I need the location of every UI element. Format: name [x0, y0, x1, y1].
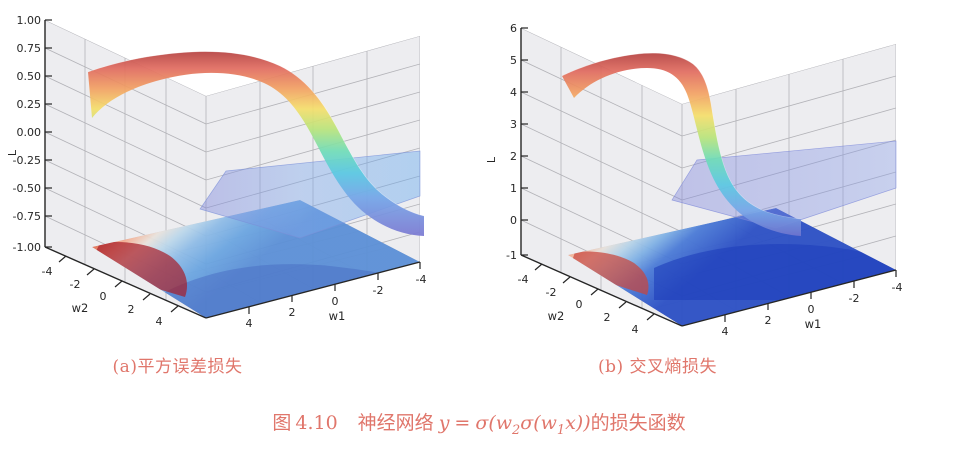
x-tick-label: 0: [332, 295, 339, 308]
z-tick-label: 3: [510, 118, 517, 131]
z-tick-label: -1.00: [13, 241, 41, 254]
z-tick-labels-b: 6 5 4 3 2 1 0 -1: [506, 22, 517, 262]
z-tick-label: 4: [510, 86, 517, 99]
z-axis-label-b: L: [485, 156, 498, 163]
z-tick-label: 0.50: [17, 70, 42, 83]
z-tick-labels-a: 1.00 0.75 0.50 0.25 0.00 -0.25 -0.50 -0.…: [13, 14, 41, 254]
z-tick-label: 0.00: [17, 126, 42, 139]
surface-plot-a: 1.00 0.75 0.50 0.25 0.00 -0.25 -0.50 -0.…: [0, 0, 479, 345]
z-axis-label-a: L: [6, 149, 19, 156]
y-tick-label: 0: [100, 290, 107, 303]
z-tick-label: 0: [510, 214, 517, 227]
y-tick-label: -2: [546, 286, 557, 299]
x-tick-label: 2: [765, 314, 772, 327]
z-tick-label: 0.75: [17, 42, 42, 55]
x-tick-label: 0: [808, 303, 815, 316]
y-tick-label: -4: [518, 273, 529, 286]
subcaption-a-tag: (a): [113, 357, 138, 377]
subcaption-a: (a)平方误差损失: [0, 352, 417, 377]
subcaption-b-label: 交叉熵损失: [630, 357, 718, 377]
figure-caption-number: 4.10: [295, 412, 337, 434]
y-axis-label-b: w2: [548, 309, 565, 323]
y-tick-label: 2: [604, 311, 611, 324]
z-tick-label: 5: [510, 54, 517, 67]
x-tick-label: 2: [289, 306, 296, 319]
x-axis-label-a: w1: [329, 309, 346, 323]
z-tick-label: 1.00: [17, 14, 42, 27]
plot-panel-cross-entropy: 6 5 4 3 2 1 0 -1 L -4 -2 0 2: [479, 0, 958, 345]
y-tick-label: 4: [156, 315, 163, 328]
x-axis-label-b: w1: [805, 317, 822, 331]
x-tick-label: -2: [849, 292, 860, 305]
y-tick-label: 0: [576, 298, 583, 311]
subcaption-b: (b) 交叉熵损失: [418, 352, 897, 377]
figure-caption-math: y=σ(w2σ(w1x)): [434, 412, 591, 434]
subcaption-a-label: 平方误差损失: [137, 357, 242, 377]
figure-caption-text-before: 神经网络: [358, 412, 434, 434]
z-tick-label: 2: [510, 150, 517, 163]
figure-caption: 图4.10神经网络y=σ(w2σ(w1x))的损失函数: [0, 408, 958, 438]
plot-panel-squared-error: 1.00 0.75 0.50 0.25 0.00 -0.25 -0.50 -0.…: [0, 0, 479, 345]
y-tick-label: -4: [42, 265, 53, 278]
x-tick-label: -2: [373, 284, 384, 297]
x-tick-label: 4: [246, 317, 253, 330]
y-tick-label: 2: [128, 303, 135, 316]
x-tick-label: 4: [722, 325, 729, 338]
y-tick-label: -2: [70, 278, 81, 291]
x-tick-label: -4: [892, 281, 903, 294]
figure-caption-text-after: 的损失函数: [591, 412, 686, 434]
z-tick-label: 6: [510, 22, 517, 35]
figure-container: 1.00 0.75 0.50 0.25 0.00 -0.25 -0.50 -0.…: [0, 0, 958, 461]
z-tick-label: -1: [506, 249, 517, 262]
figure-caption-prefix: 图: [272, 412, 291, 434]
z-tick-label: 1: [510, 182, 517, 195]
z-tick-label: -0.75: [13, 210, 41, 223]
z-tick-label: 0.25: [17, 98, 42, 111]
x-tick-label: -4: [416, 273, 427, 286]
y-axis-label-a: w2: [72, 301, 89, 315]
y-tick-label: 4: [632, 323, 639, 336]
z-tick-label: -0.50: [13, 182, 41, 195]
subcaption-b-tag: (b): [598, 357, 624, 377]
surface-plot-b: 6 5 4 3 2 1 0 -1 L -4 -2 0 2: [479, 0, 958, 345]
